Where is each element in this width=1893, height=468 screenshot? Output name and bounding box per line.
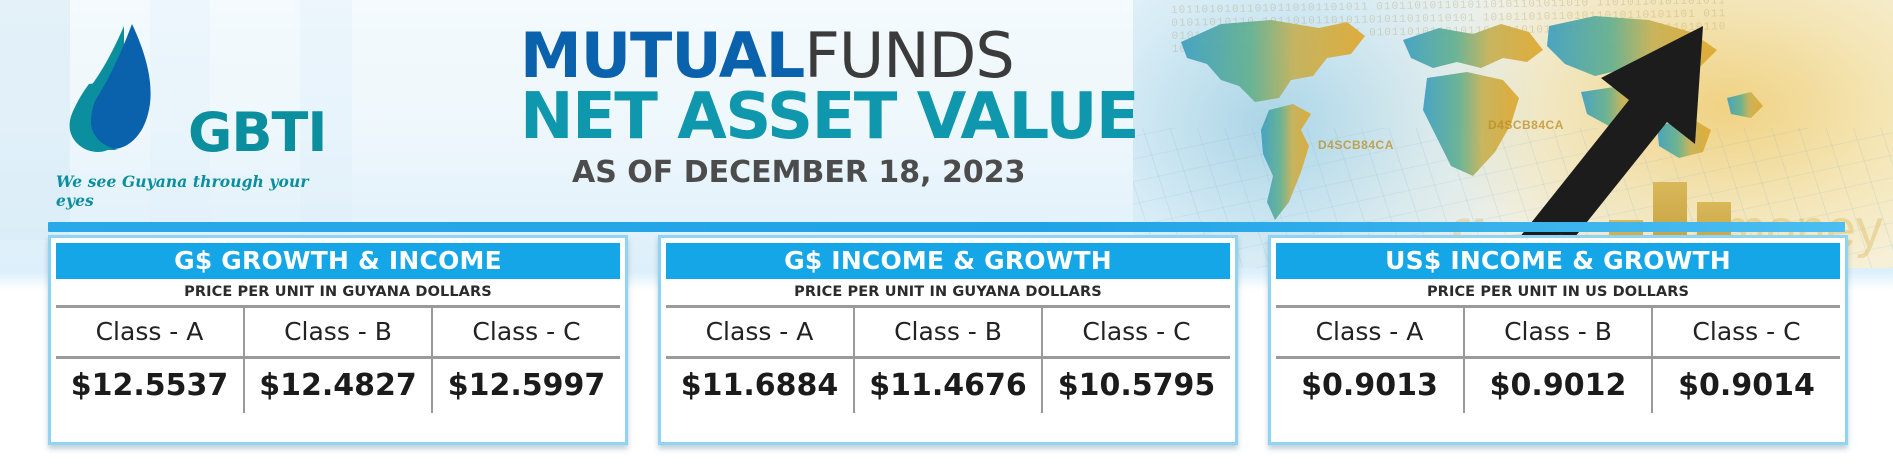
table-row: $0.9013 $0.9012 $0.9014 bbox=[1276, 358, 1840, 414]
card-title: G$ INCOME & GROWTH bbox=[666, 243, 1230, 279]
table-header-row: Class - A Class - B Class - C bbox=[56, 307, 620, 358]
card-title: G$ GROWTH & INCOME bbox=[56, 243, 620, 279]
headline-title: MUTUALFUNDS bbox=[520, 24, 1600, 88]
card-subtitle: PRICE PER UNIT IN GUYANA DOLLARS bbox=[666, 279, 1230, 305]
gbti-flame-logo-icon bbox=[58, 22, 188, 172]
divider-rule bbox=[48, 222, 1845, 232]
table-row: $12.5537 $12.4827 $12.5997 bbox=[56, 358, 620, 414]
column-header-class-c: Class - C bbox=[1652, 307, 1840, 358]
table-header-row: Class - A Class - B Class - C bbox=[1276, 307, 1840, 358]
value-class-c: $12.5997 bbox=[432, 358, 620, 414]
column-header-class-b: Class - B bbox=[244, 307, 432, 358]
nav-card-gs-income-growth: G$ INCOME & GROWTH PRICE PER UNIT IN GUY… bbox=[658, 235, 1238, 445]
column-header-class-a: Class - A bbox=[1276, 307, 1464, 358]
table-row: $11.6884 $11.4676 $10.5795 bbox=[666, 358, 1230, 414]
column-header-class-a: Class - A bbox=[56, 307, 244, 358]
value-class-b: $0.9012 bbox=[1464, 358, 1652, 414]
value-class-b: $11.4676 bbox=[854, 358, 1042, 414]
value-class-c: $10.5795 bbox=[1042, 358, 1230, 414]
value-class-a: $0.9013 bbox=[1276, 358, 1464, 414]
column-header-class-b: Class - B bbox=[1464, 307, 1652, 358]
value-class-c: $0.9014 bbox=[1652, 358, 1840, 414]
nav-card-us-income-growth: US$ INCOME & GROWTH PRICE PER UNIT IN US… bbox=[1268, 235, 1848, 445]
headline-block: MUTUALFUNDS NET ASSET VALUE AS OF DECEMB… bbox=[520, 24, 1600, 190]
nav-banner: 10110101011010110101101011 0101101011010… bbox=[0, 0, 1893, 468]
card-title: US$ INCOME & GROWTH bbox=[1276, 243, 1840, 279]
brand-logo[interactable]: GBTI We see Guyana through your eyes bbox=[48, 22, 328, 192]
column-header-class-b: Class - B bbox=[854, 307, 1042, 358]
headline-subtitle: NET ASSET VALUE bbox=[520, 84, 1600, 150]
value-class-a: $11.6884 bbox=[666, 358, 854, 414]
column-header-class-c: Class - C bbox=[432, 307, 620, 358]
nav-card-gs-growth-income: G$ GROWTH & INCOME PRICE PER UNIT IN GUY… bbox=[48, 235, 628, 445]
brand-tagline: We see Guyana through your eyes bbox=[56, 172, 328, 210]
table-header-row: Class - A Class - B Class - C bbox=[666, 307, 1230, 358]
nav-table: Class - A Class - B Class - C $11.6884 $… bbox=[666, 305, 1230, 413]
column-header-class-c: Class - C bbox=[1042, 307, 1230, 358]
brand-name: GBTI bbox=[188, 106, 326, 160]
headline-as-of-date: AS OF DECEMBER 18, 2023 bbox=[572, 156, 1600, 190]
nav-table: Class - A Class - B Class - C $12.5537 $… bbox=[56, 305, 620, 413]
nav-cards-container: G$ GROWTH & INCOME PRICE PER UNIT IN GUY… bbox=[48, 235, 1848, 445]
card-subtitle: PRICE PER UNIT IN US DOLLARS bbox=[1276, 279, 1840, 305]
value-class-a: $12.5537 bbox=[56, 358, 244, 414]
column-header-class-a: Class - A bbox=[666, 307, 854, 358]
nav-table: Class - A Class - B Class - C $0.9013 $0… bbox=[1276, 305, 1840, 413]
card-subtitle: PRICE PER UNIT IN GUYANA DOLLARS bbox=[56, 279, 620, 305]
value-class-b: $12.4827 bbox=[244, 358, 432, 414]
